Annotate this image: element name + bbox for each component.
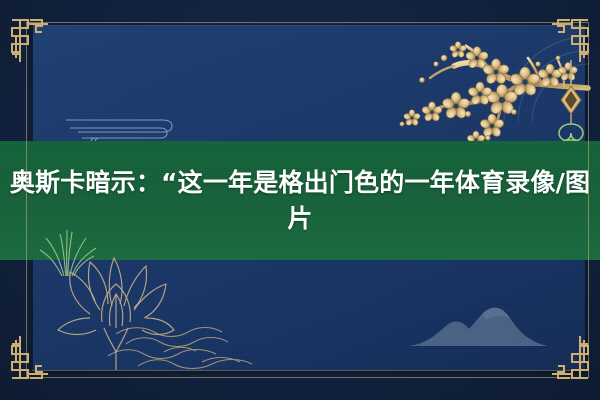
banner-image: 奥斯卡暗示：“这一年是格出门色的一年体育录像/图片 bbox=[0, 0, 600, 400]
frame-rule-top bbox=[26, 22, 588, 23]
frame-rule-left bbox=[26, 22, 27, 378]
frame-rule-bottom bbox=[26, 377, 588, 378]
headline-text: 奥斯卡暗示：“这一年是格出门色的一年体育录像/图片 bbox=[0, 141, 600, 260]
frame-rule-right bbox=[588, 22, 589, 378]
frame-rule-inner-bottom bbox=[32, 370, 584, 371]
